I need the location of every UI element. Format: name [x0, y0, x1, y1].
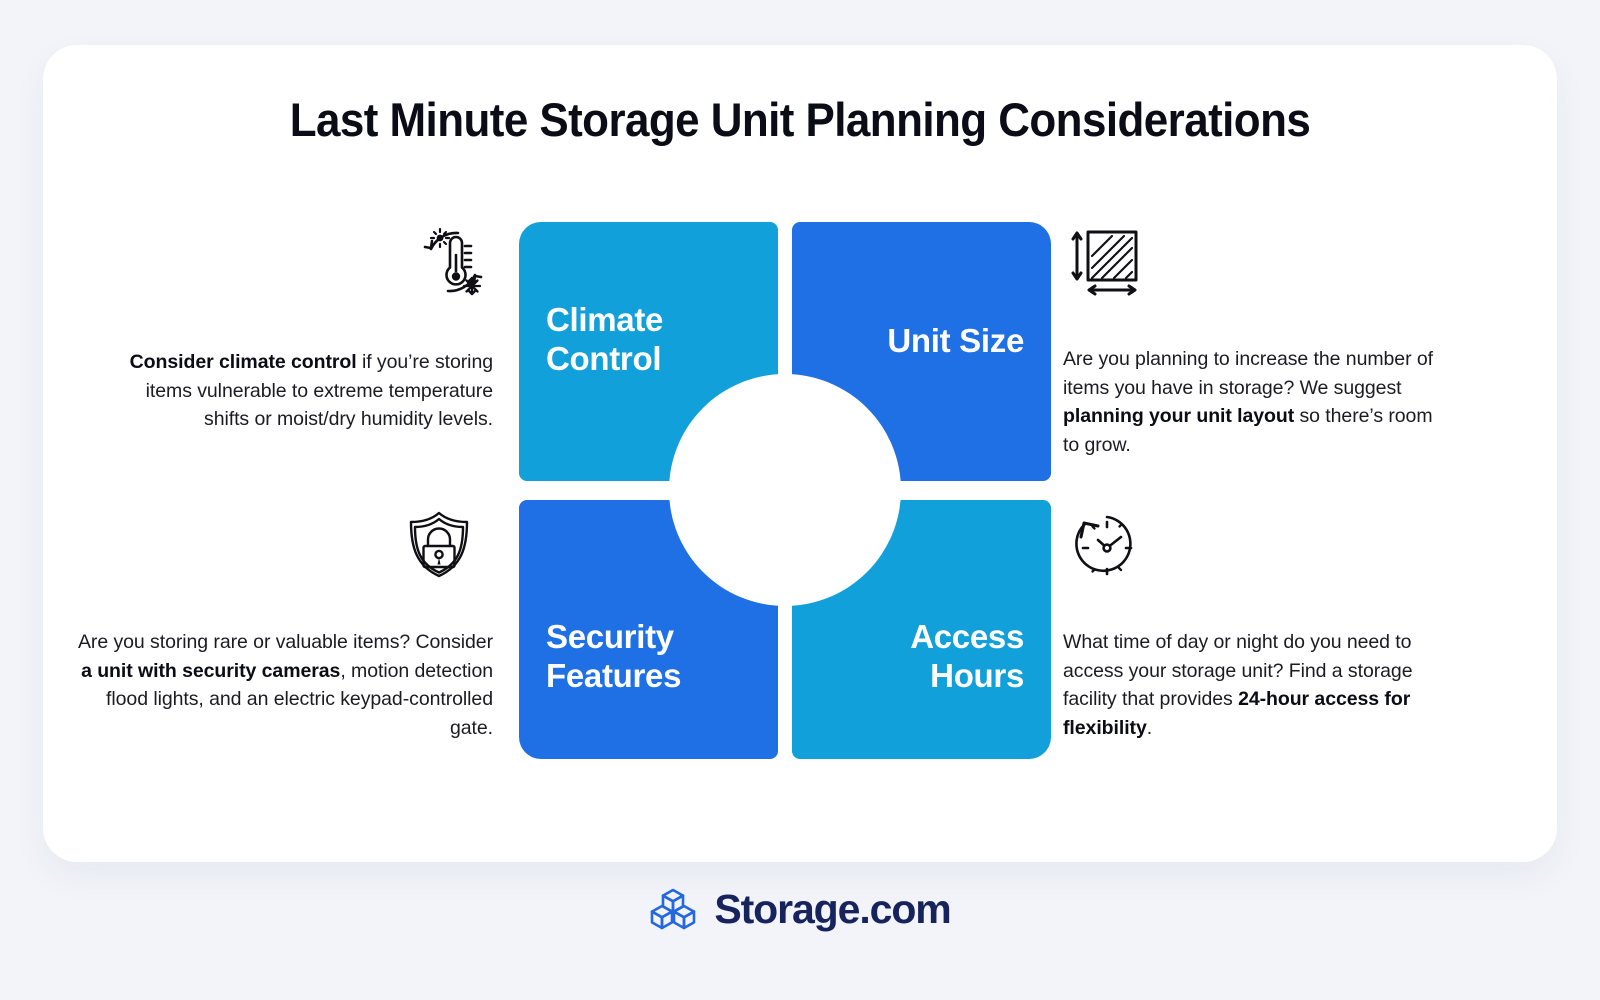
stacked-cubes-logo-icon: [649, 885, 697, 933]
shield-lock-icon: [399, 504, 479, 584]
clock-arrow-icon: [1063, 504, 1143, 584]
infographic-page: Last Minute Storage Unit Planning Consid…: [0, 0, 1600, 1000]
tile-security-features[interactable]: [519, 500, 778, 759]
panel-text-access-hours: What time of day or night do you need to…: [1063, 628, 1453, 742]
footer-branding: Storage.com: [0, 885, 1600, 933]
panel-text-security-features: Are you storing rare or valuable items? …: [73, 628, 493, 742]
tile-climate-control[interactable]: [519, 222, 778, 481]
footer-wordmark: Storage.com: [714, 886, 950, 933]
tile-access-hours[interactable]: [792, 500, 1051, 759]
quadrant-diagram: Climate Control Unit Size Security Featu…: [519, 222, 1051, 759]
page-title: Last Minute Storage Unit Planning Consid…: [92, 92, 1508, 147]
quadrant-diagram-svg: [519, 222, 1051, 759]
content-card: Last Minute Storage Unit Planning Consid…: [43, 45, 1557, 862]
dimension-square-icon: [1063, 220, 1143, 300]
panel-text-climate-control: Consider climate control if you’re stori…: [103, 348, 493, 434]
thermometer-sun-snowflake-icon: [413, 222, 493, 302]
panel-text-unit-size: Are you planning to increase the number …: [1063, 345, 1453, 459]
tile-unit-size[interactable]: [792, 222, 1051, 481]
